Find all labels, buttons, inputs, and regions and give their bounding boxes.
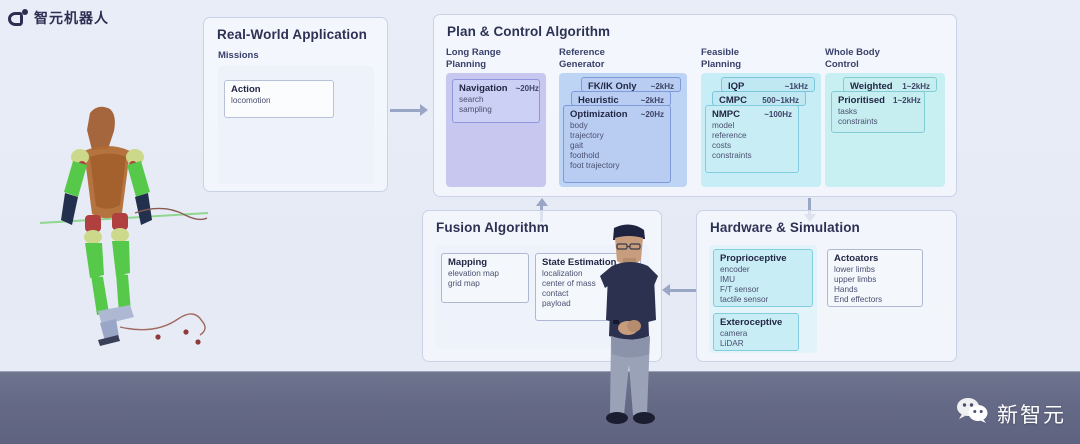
agibot-mark-icon	[8, 9, 28, 27]
tile-fk-ik-only[interactable]: FK/IK Only ~2kHz	[581, 77, 681, 92]
presenter-on-stage	[578, 222, 683, 434]
tile-weighted[interactable]: Weighted 1~2kHz	[843, 77, 937, 92]
tile-exteroceptive-name: Exteroceptive	[720, 317, 782, 328]
tile-optimization-name: Optimization	[570, 109, 628, 120]
tile-proprioceptive[interactable]: Proprioceptive encoder IMU F/T sensor ta…	[713, 249, 813, 307]
tile-nmpc-name: NMPC	[712, 109, 740, 120]
tile-fk-ik-only-freq: ~2kHz	[651, 82, 674, 91]
tile-nmpc-body: model reference costs constraints	[706, 121, 798, 165]
tile-optimization[interactable]: Optimization ~20Hz body trajectory gait …	[563, 105, 671, 183]
wechat-icon	[956, 397, 990, 430]
tile-action[interactable]: Action locomotion	[224, 80, 334, 118]
tile-cmpc-freq: 500~1kHz	[762, 96, 799, 105]
brand-logo: 智元机器人	[8, 8, 109, 28]
tile-actoators-body: lower limbs upper limbs Hands End effect…	[828, 265, 922, 309]
channel-watermark: 新智元	[956, 397, 1066, 430]
tile-heuristic-freq: ~2kHz	[641, 96, 664, 105]
tile-mapping-name: Mapping	[448, 257, 487, 268]
tile-actoators[interactable]: Actoators lower limbs upper limbs Hands …	[827, 249, 923, 307]
tile-optimization-freq: ~20Hz	[641, 110, 664, 119]
column-label-reference-generator: Reference Generator	[559, 47, 605, 70]
tile-navigation-freq: ~20Hz	[516, 84, 539, 93]
section-label-missions: Missions	[218, 50, 259, 62]
tile-exteroceptive-body: camera LiDAR	[714, 329, 798, 353]
tile-prioritised-name: Prioritised	[838, 95, 885, 106]
tile-navigation-name: Navigation	[459, 83, 508, 94]
brand-logo-text: 智元机器人	[34, 8, 109, 28]
tile-navigation[interactable]: Navigation ~20Hz search sampling	[452, 79, 540, 123]
watermark-text: 新智元	[997, 399, 1066, 429]
tile-action-body: locomotion	[225, 96, 333, 110]
tile-nmpc-freq: ~100Hz	[764, 110, 792, 119]
panel-plan-control-algorithm[interactable]: Plan & Control Algorithm Long Range Plan…	[433, 14, 957, 197]
video-frame: 智元机器人	[0, 0, 1080, 444]
tile-nmpc[interactable]: NMPC ~100Hz model reference costs constr…	[705, 105, 799, 173]
panel-title-plan-control: Plan & Control Algorithm	[447, 24, 610, 39]
tile-optimization-body: body trajectory gait foothold foot traje…	[564, 121, 670, 175]
panel-title-fusion: Fusion Algorithm	[436, 220, 549, 235]
panel-title-real-world: Real-World Application	[217, 27, 367, 42]
tile-iqp[interactable]: IQP ~1kHz	[721, 77, 815, 92]
tile-navigation-body: search sampling	[453, 95, 539, 119]
column-label-feasible-planning: Feasible Planning	[701, 47, 741, 70]
panel-title-hardware: Hardware & Simulation	[710, 220, 860, 235]
tile-action-name: Action	[231, 84, 261, 95]
tile-mapping[interactable]: Mapping elevation map grid map	[441, 253, 529, 303]
column-label-whole-body-control: Whole Body Control	[825, 47, 880, 70]
tile-iqp-freq: ~1kHz	[785, 82, 808, 91]
tile-prioritised-freq: 1~2kHz	[893, 96, 921, 105]
tile-exteroceptive[interactable]: Exteroceptive camera LiDAR	[713, 313, 799, 351]
tile-actoators-name: Actoators	[834, 253, 878, 264]
arrow-realworld-to-plan	[390, 104, 432, 118]
tile-heuristic[interactable]: Heuristic ~2kHz	[571, 91, 671, 106]
tile-proprioceptive-name: Proprioceptive	[720, 253, 787, 264]
humanoid-robot-visualization	[40, 95, 210, 350]
tile-prioritised-body: tasks constraints	[832, 107, 924, 131]
stage-floor	[0, 372, 1080, 444]
tile-prioritised[interactable]: Prioritised 1~2kHz tasks constraints	[831, 91, 925, 133]
column-label-long-range-planning: Long Range Planning	[446, 47, 501, 70]
tile-proprioceptive-body: encoder IMU F/T sensor tactile sensor	[714, 265, 812, 309]
panel-hardware-simulation[interactable]: Hardware & Simulation Proprioceptive enc…	[696, 210, 957, 362]
tile-cmpc[interactable]: CMPC 500~1kHz	[712, 91, 806, 106]
panel-real-world-application[interactable]: Real-World Application Missions Action l…	[203, 17, 388, 192]
tile-weighted-freq: 1~2kHz	[902, 82, 930, 91]
tile-mapping-body: elevation map grid map	[442, 269, 528, 293]
